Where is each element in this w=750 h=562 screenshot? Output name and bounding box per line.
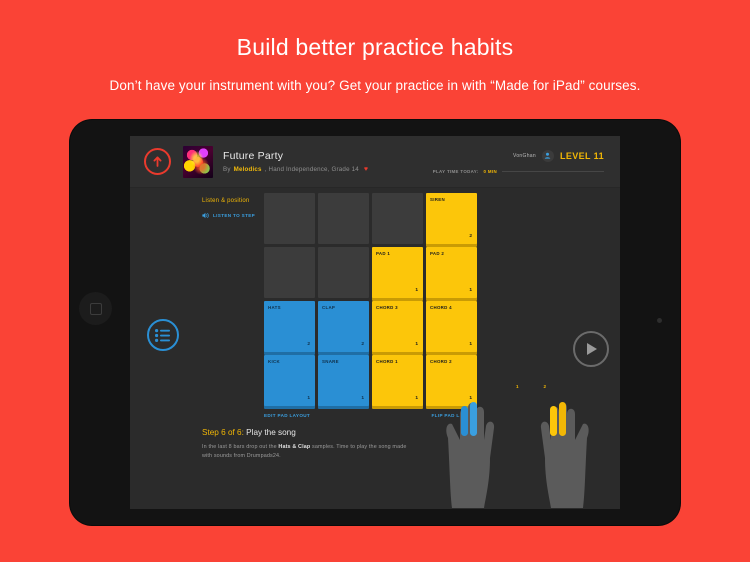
course-title-block: Future Party By Melodics , Hand Independ… [223, 150, 368, 173]
step-instructions: Step 6 of 6: Play the song In the last 8… [202, 428, 417, 461]
pad-chord-4[interactable]: CHORD 41 [426, 301, 477, 352]
heart-icon[interactable]: ♥ [364, 166, 368, 173]
pad-label: SNARE [322, 359, 339, 364]
left-hand-icon [446, 402, 494, 508]
pad-pad-2[interactable]: PAD 21 [426, 247, 477, 298]
play-icon [585, 342, 598, 356]
right-finger-2 [559, 402, 566, 436]
pad-label: CHORD 2 [430, 359, 452, 364]
pad-empty-1-1 [318, 247, 369, 298]
promo-header: Build better practice habits Don’t have … [0, 0, 750, 93]
ipad-device-frame: Future Party By Melodics , Hand Independ… [70, 120, 680, 525]
list-menu-button[interactable] [147, 319, 179, 351]
pad-finger-number: 1 [469, 342, 472, 347]
pad-finger-number: 1 [307, 396, 310, 401]
album-artwork [183, 146, 213, 178]
pad-label: CHORD 4 [430, 305, 452, 310]
pad-hats[interactable]: HATS2 [264, 301, 315, 352]
level-badge: LEVEL 11 [560, 151, 604, 161]
pad-finger-number: 2 [361, 342, 364, 347]
pad-label: PAD 1 [376, 251, 390, 256]
playtime-label: PLAY TIME TODAY: [433, 169, 479, 174]
meta-prefix: By [223, 166, 231, 173]
app-screen: Future Party By Melodics , Hand Independ… [130, 136, 620, 509]
finger-number-1: 1 [516, 384, 519, 389]
pad-label: CLAP [322, 305, 335, 310]
course-meta: By Melodics , Hand Independence, Grade 1… [223, 166, 368, 173]
pad-empty-0-0 [264, 193, 315, 244]
finger-number-2: 2 [543, 384, 546, 389]
left-finger-1 [461, 406, 468, 436]
avatar[interactable] [542, 150, 554, 162]
step-body: In the last 8 bars drop out the Hats & C… [202, 443, 417, 461]
app-body: Listen & position LISTEN TO STEP SIREN2P… [130, 188, 620, 509]
course-title: Future Party [223, 150, 368, 162]
listen-panel-title: Listen & position [202, 198, 264, 204]
pad-finger-number: 1 [415, 342, 418, 347]
pad-label: PAD 2 [430, 251, 444, 256]
pad-finger-number: 1 [415, 396, 418, 401]
promo-title: Build better practice habits [0, 32, 750, 62]
pad-snare[interactable]: SNARE1 [318, 355, 369, 406]
list-menu-icon [155, 329, 171, 342]
step-heading: Step 6 of 6: Play the song [202, 428, 417, 437]
user-icon [544, 152, 551, 159]
pad-empty-0-1 [318, 193, 369, 244]
username-label: VonGhan [513, 153, 536, 159]
square-icon [90, 303, 102, 315]
playtime-progress-bar [502, 171, 604, 172]
header-right-group: VonGhan LEVEL 11 PLAY TIME TODAY: 0 MIN [433, 150, 606, 174]
listen-to-step-button[interactable]: LISTEN TO STEP [202, 212, 264, 219]
user-row: VonGhan LEVEL 11 [513, 150, 604, 162]
pad-label: CHORD 1 [376, 359, 398, 364]
pad-kick[interactable]: KICK1 [264, 355, 315, 406]
pad-chord-1[interactable]: CHORD 11 [372, 355, 423, 406]
app-header: Future Party By Melodics , Hand Independ… [130, 136, 620, 188]
pad-empty-1-0 [264, 247, 315, 298]
pad-grid: SIREN2PAD 11PAD 21HATS2CLAP2CHORD 31CHOR… [264, 193, 477, 406]
pad-siren[interactable]: SIREN2 [426, 193, 477, 244]
playtime-row: PLAY TIME TODAY: 0 MIN [433, 169, 604, 174]
step-heading-rest: Play the song [244, 428, 296, 437]
pad-finger-number: 2 [469, 234, 472, 239]
camera-dot-icon [657, 318, 662, 323]
listen-to-step-label: LISTEN TO STEP [213, 213, 255, 218]
step-body-part1: In the last 8 bars drop out the [202, 444, 278, 450]
right-finger-1 [550, 406, 557, 436]
pad-chord-3[interactable]: CHORD 31 [372, 301, 423, 352]
finger-number-group: 1 2 [516, 384, 546, 389]
pad-empty-0-2 [372, 193, 423, 244]
speaker-icon [202, 212, 209, 219]
playtime-value: 0 MIN [484, 169, 497, 174]
meta-brand: Melodics [234, 166, 262, 173]
pad-label: HATS [268, 305, 281, 310]
listen-panel: Listen & position LISTEN TO STEP [202, 198, 264, 219]
hands-svg [430, 388, 605, 508]
promo-subtitle: Don’t have your instrument with you? Get… [0, 78, 750, 93]
ipad-home-button[interactable] [79, 292, 112, 325]
pad-finger-number: 1 [469, 288, 472, 293]
edit-pad-layout-link[interactable]: EDIT PAD LAYOUT [264, 413, 310, 418]
step-heading-highlight: Step 6 of 6: [202, 428, 244, 437]
left-finger-2 [470, 402, 477, 436]
play-button[interactable] [573, 331, 609, 367]
pad-label: KICK [268, 359, 280, 364]
pad-finger-number: 1 [361, 396, 364, 401]
right-hand-icon [541, 402, 589, 508]
pad-label: CHORD 3 [376, 305, 398, 310]
pad-pad-1[interactable]: PAD 11 [372, 247, 423, 298]
up-arrow-icon [152, 156, 163, 168]
pad-finger-number: 2 [307, 342, 310, 347]
hands-illustration: 1 2 [430, 388, 605, 508]
back-button[interactable] [144, 148, 171, 175]
step-body-bold: Hats & Clap [278, 444, 310, 450]
meta-rest: , Hand Independence, Grade 14 [265, 166, 359, 173]
pad-label: SIREN [430, 197, 445, 202]
pad-clap[interactable]: CLAP2 [318, 301, 369, 352]
pad-finger-number: 1 [415, 288, 418, 293]
